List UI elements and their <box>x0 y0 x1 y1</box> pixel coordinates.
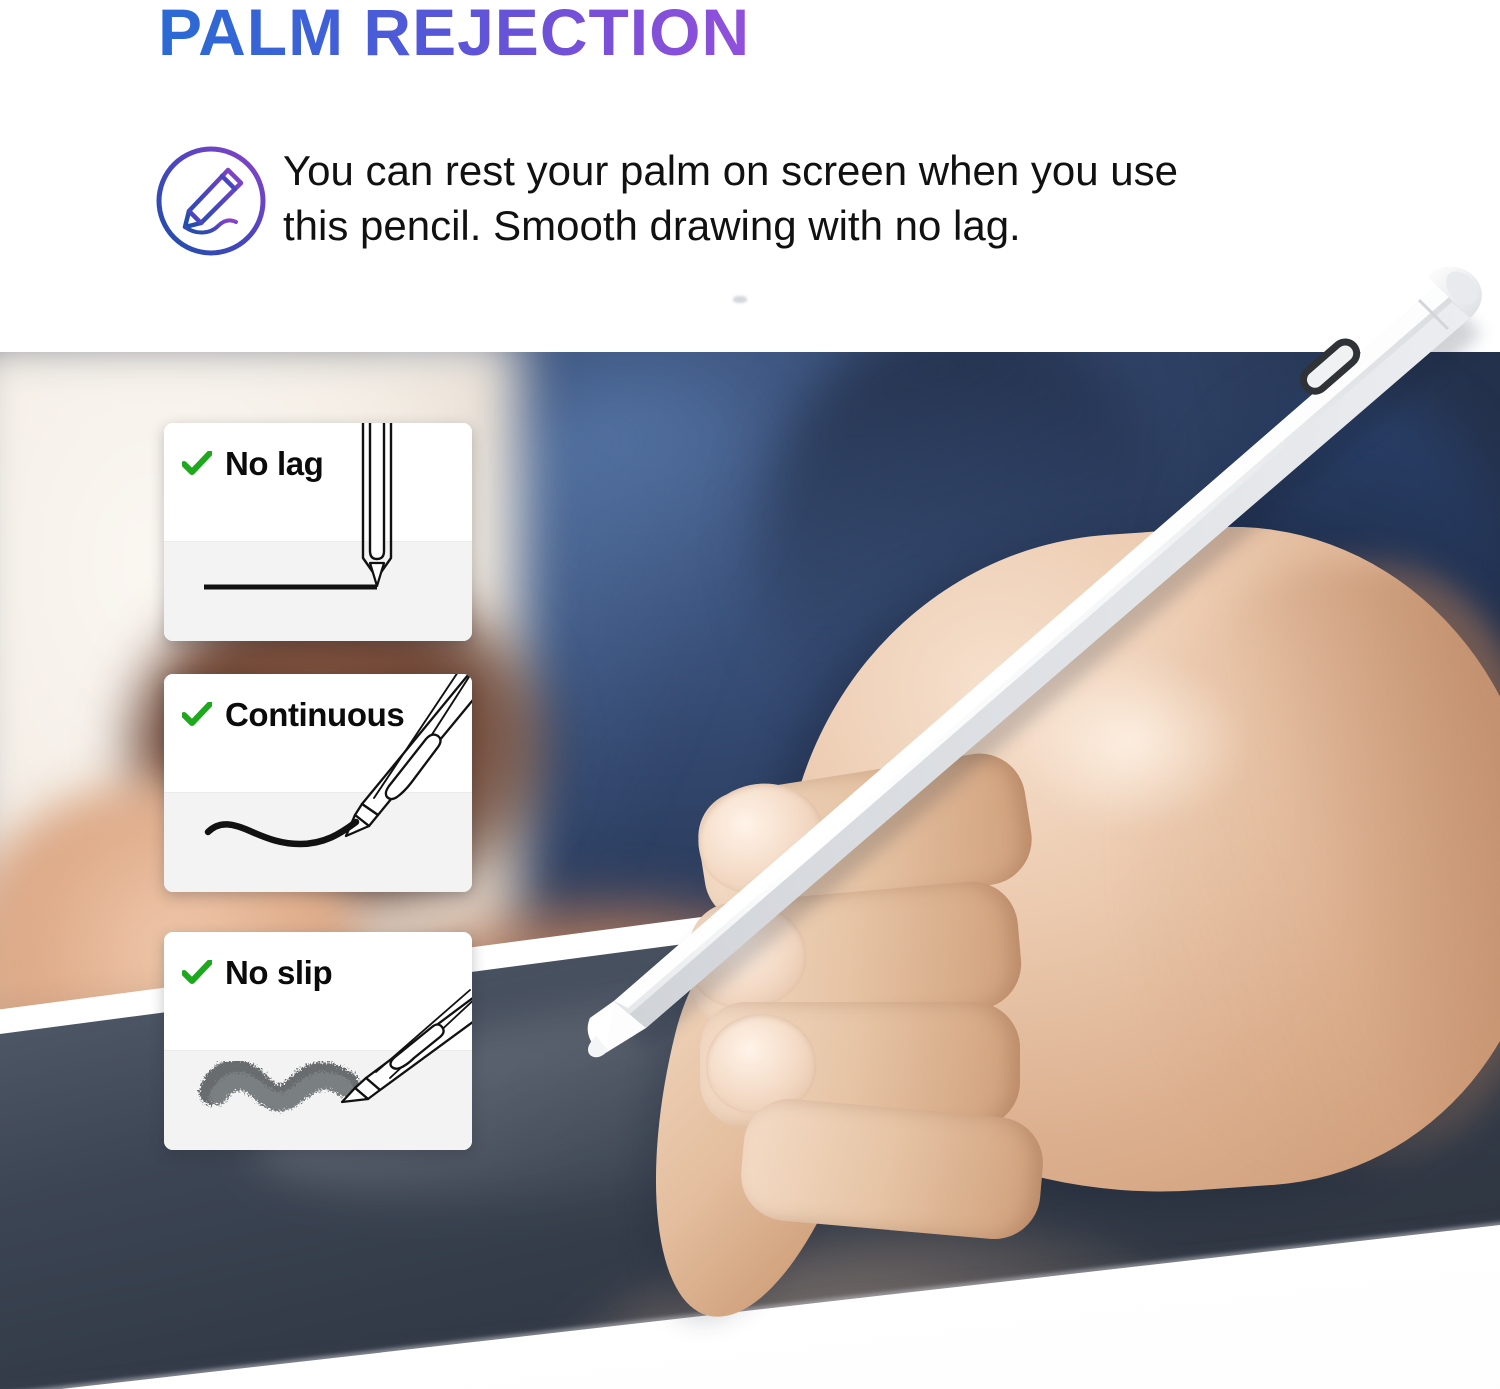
page-title: PALM REJECTION <box>158 0 750 70</box>
card-header: Continuous <box>182 696 404 734</box>
card-label: No lag <box>225 445 323 483</box>
card-label: No slip <box>225 954 332 992</box>
knuckle-highlight <box>1010 652 1250 832</box>
intro-line-1: You can rest your palm on screen when yo… <box>283 143 1263 198</box>
intro-line-2: this pencil. Smooth drawing with no lag. <box>283 198 1263 253</box>
image-artifact-speck <box>733 296 747 303</box>
little-finger <box>737 1095 1046 1243</box>
green-check-icon <box>182 451 212 477</box>
pencil-drawing-icon <box>152 142 270 260</box>
card-header: No slip <box>182 954 332 992</box>
feature-card-no-lag[interactable]: No lag <box>164 423 472 641</box>
intro-text: You can rest your palm on screen when yo… <box>283 143 1263 254</box>
card-label: Continuous <box>225 696 404 734</box>
header-band: PALM REJECTION You can rest your palm on… <box>0 0 1500 352</box>
green-check-icon <box>182 702 212 728</box>
feature-card-continuous[interactable]: Continuous <box>164 674 472 892</box>
green-check-icon <box>182 960 212 986</box>
product-feature-page: PALM REJECTION You can rest your palm on… <box>0 0 1500 1389</box>
card-header: No lag <box>182 445 323 483</box>
feature-card-no-slip[interactable]: No slip <box>164 932 472 1150</box>
